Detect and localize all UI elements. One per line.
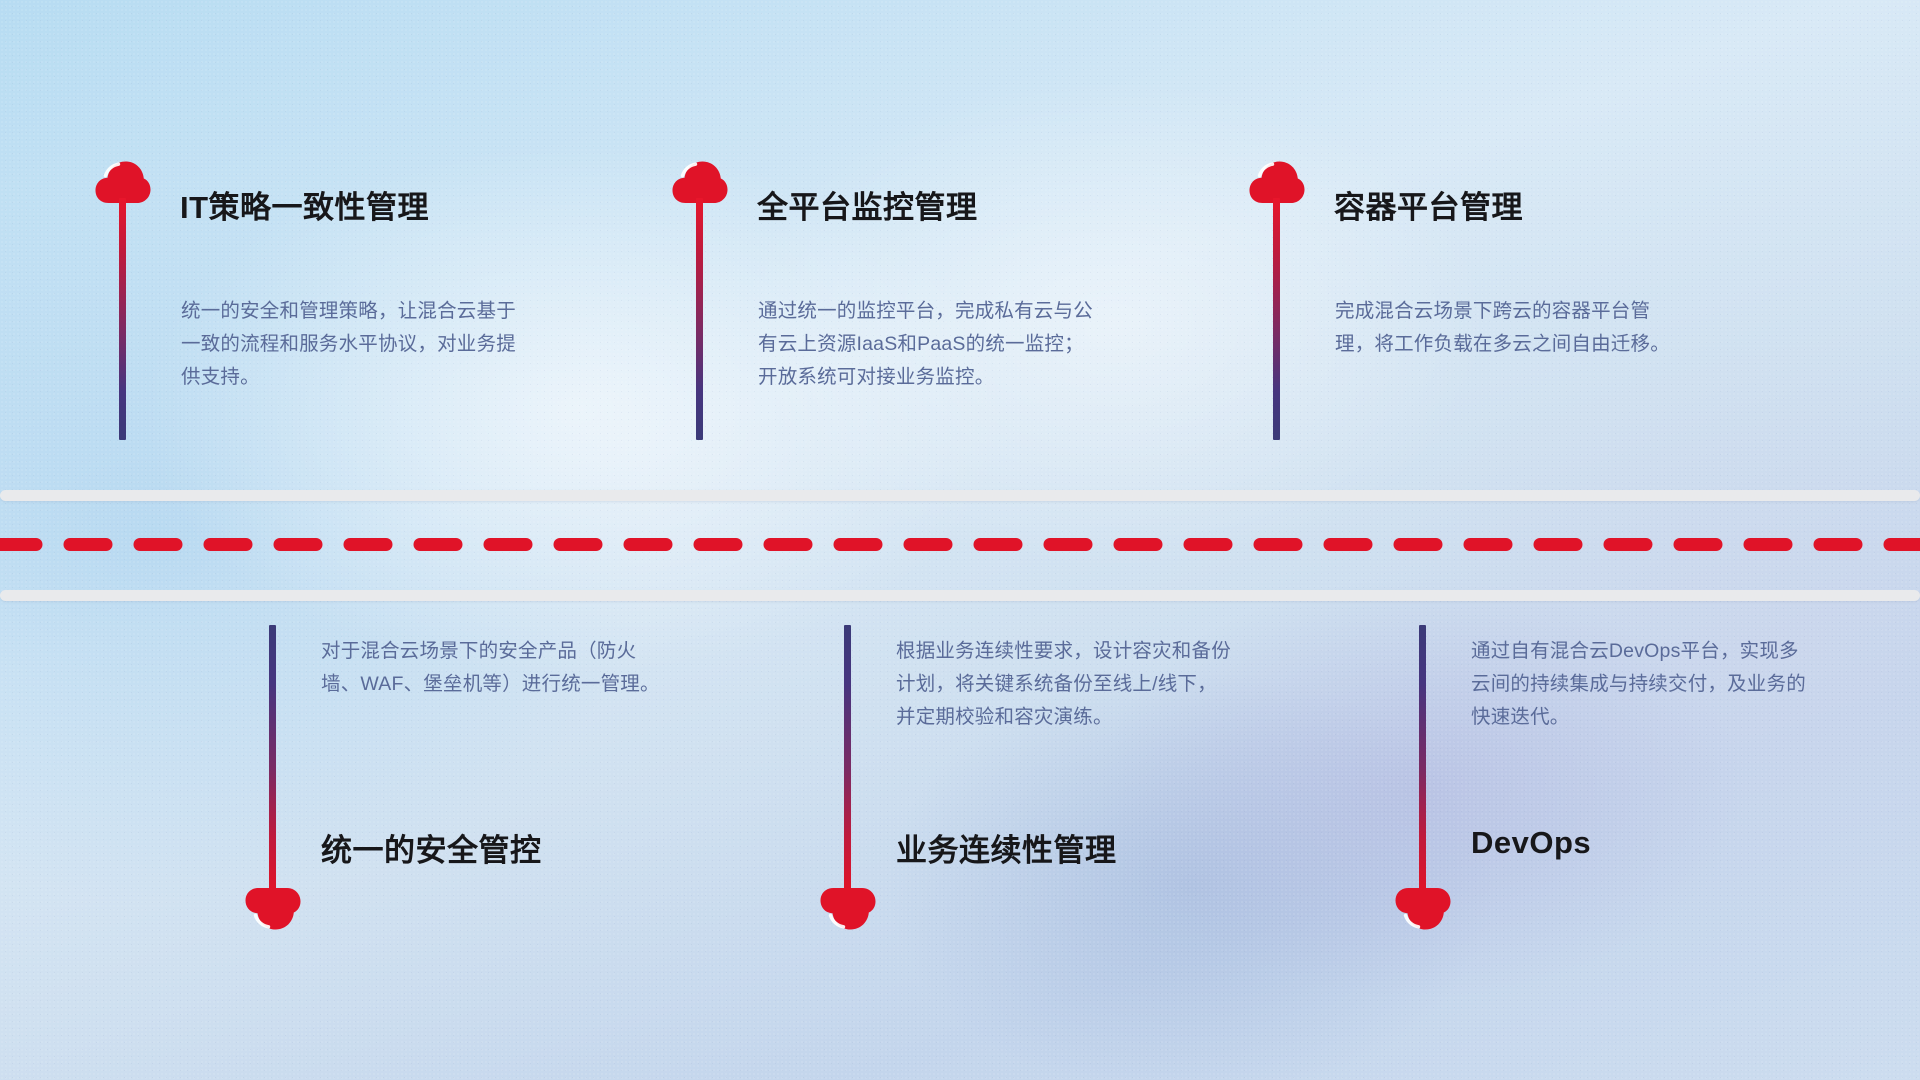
connector-stem — [1273, 198, 1280, 440]
card-body: 统一的安全和管理策略，让混合云基于一致的流程和服务水平协议，对业务提供支持。 — [181, 295, 521, 394]
card-heading: 容器平台管理 — [1334, 182, 1523, 227]
divider-band — [0, 490, 1920, 600]
card-heading: 统一的安全管控 — [321, 825, 542, 870]
connector-stem — [1419, 625, 1426, 890]
divider-rail-top — [0, 490, 1920, 501]
card-body: 完成混合云场景下跨云的容器平台管理，将工作负载在多云之间自由迁移。 — [1335, 295, 1675, 361]
connector-stem — [269, 625, 276, 890]
card-body: 通过自有混合云DevOps平台，实现多云间的持续集成与持续交付，及业务的快速迭代… — [1471, 635, 1811, 734]
card-body: 根据业务连续性要求，设计容灾和备份计划，将关键系统备份至线上/线下，并定期校验和… — [896, 635, 1236, 734]
infographic-canvas: IT策略一致性管理 统一的安全和管理策略，让混合云基于一致的流程和服务水平协议，… — [0, 0, 1920, 1080]
cloud-icon — [820, 887, 876, 931]
cloud-icon — [245, 887, 301, 931]
card-heading: 业务连续性管理 — [896, 825, 1117, 870]
connector-stem — [119, 198, 126, 440]
card-body: 通过统一的监控平台，完成私有云与公有云上资源IaaS和PaaS的统一监控；开放系… — [758, 295, 1098, 394]
card-heading: IT策略一致性管理 — [180, 182, 429, 227]
connector-stem — [844, 625, 851, 890]
dashed-center-line — [0, 538, 1920, 551]
connector-stem — [696, 198, 703, 440]
cloud-icon — [1395, 887, 1451, 931]
divider-rail-bottom — [0, 590, 1920, 601]
card-heading: DevOps — [1471, 825, 1591, 861]
card-heading: 全平台监控管理 — [757, 182, 978, 227]
card-body: 对于混合云场景下的安全产品（防火墙、WAF、堡垒机等）进行统一管理。 — [321, 635, 661, 701]
